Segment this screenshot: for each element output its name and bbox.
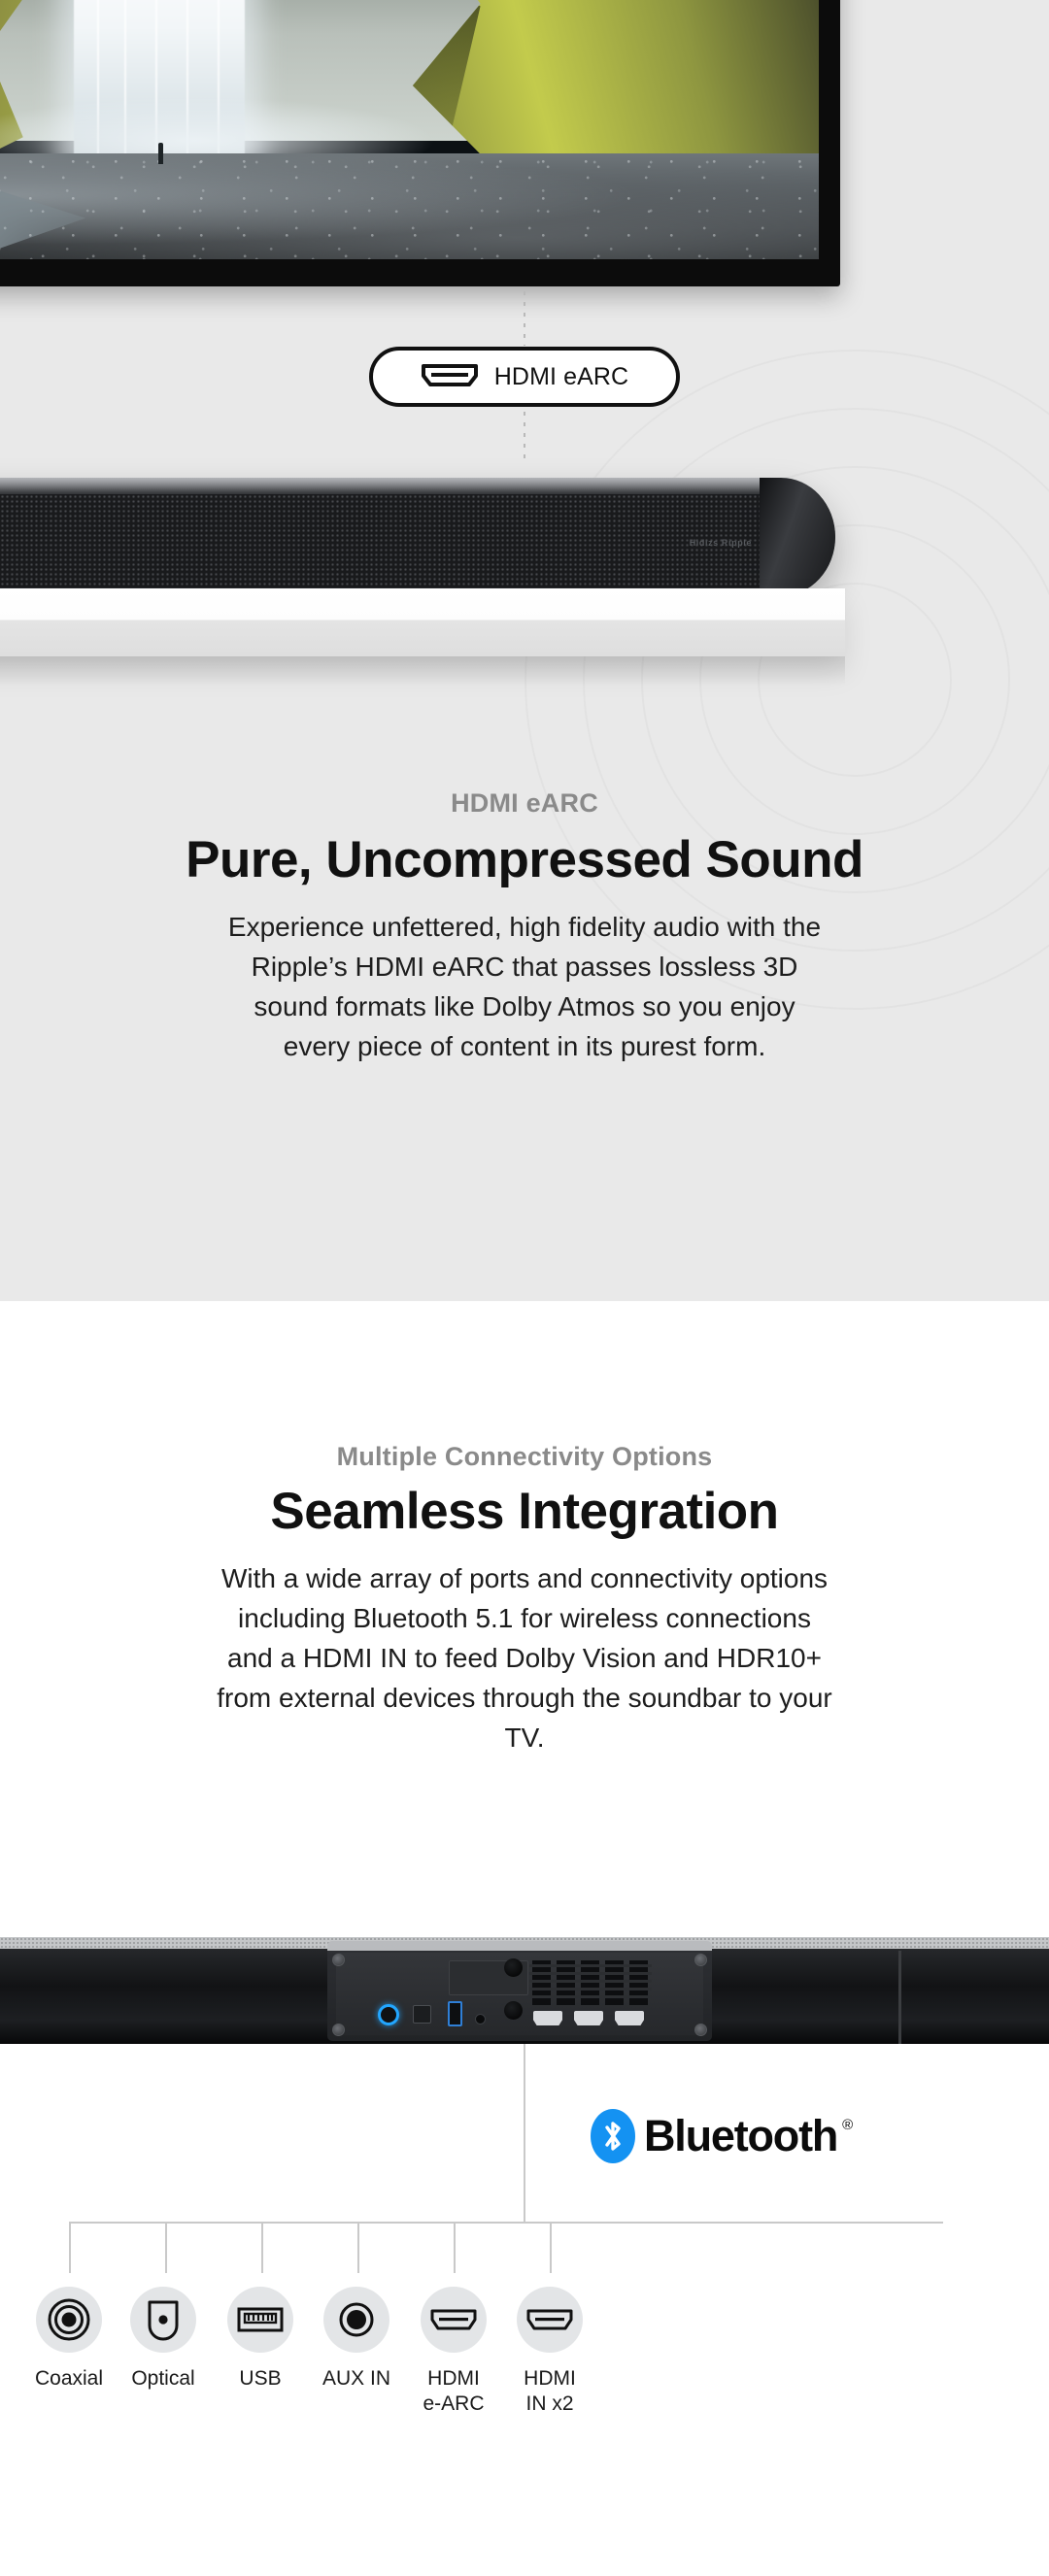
- connectivity-headline: Seamless Integration: [0, 1482, 1049, 1541]
- bluetooth-icon: [591, 2109, 635, 2163]
- coaxial-port-icon: [36, 2287, 102, 2353]
- panel-aux-port: [475, 2014, 486, 2024]
- panel-hdmi-port-3: [615, 2011, 644, 2025]
- panel-optical-port: [413, 2005, 431, 2024]
- connectivity-paragraph: With a wide array of ports and connectiv…: [214, 1559, 835, 1757]
- port-item-hdmi-in[interactable]: HDMI IN x2: [487, 2287, 613, 2416]
- panel-usb-port: [448, 2001, 462, 2026]
- port-connector-tree: [0, 2044, 1049, 2238]
- port-label: HDMI IN x2: [487, 2366, 613, 2416]
- panel-coaxial-port: [378, 2004, 399, 2025]
- hero-headline: Pure, Uncompressed Sound: [0, 830, 1049, 889]
- dotted-connector-bottom: [524, 412, 525, 460]
- bluetooth-wordmark: Bluetooth: [644, 2111, 837, 2161]
- hero-section: HDMI eARC Hidizs Ripple HDMI eARC Pure, …: [0, 0, 1049, 1301]
- optical-port-icon: [130, 2287, 196, 2353]
- registered-trademark-icon: ®: [842, 2117, 853, 2133]
- soundbar-port-panel: [327, 1941, 712, 2041]
- panel-hdmi-port-2: [574, 2011, 603, 2025]
- hdmi-earc-badge: HDMI eARC: [369, 347, 680, 407]
- television: [0, 0, 840, 286]
- panel-hdmi-port-1: [533, 2011, 562, 2025]
- hdmi-earc-badge-label: HDMI eARC: [494, 363, 628, 391]
- tv-screen: [0, 0, 819, 259]
- usb-port-icon: [227, 2287, 293, 2353]
- connectivity-eyebrow: Multiple Connectivity Options: [0, 1442, 1049, 1472]
- hdmi-port-icon: [421, 360, 479, 394]
- hdmi-in-port-icon: [517, 2287, 583, 2353]
- aux-in-port-icon: [323, 2287, 389, 2353]
- hero-eyebrow: HDMI eARC: [0, 788, 1049, 819]
- dotted-connector-top: [524, 291, 525, 346]
- tree-bus: [69, 2222, 943, 2224]
- soundbar-grille: [0, 494, 771, 587]
- ventilation-grille: [529, 1960, 652, 2005]
- hero-copy-block: HDMI eARC Pure, Uncompressed Sound Exper…: [0, 788, 1049, 1067]
- tree-stem: [524, 2044, 525, 2222]
- waterfall-scene-image: [0, 0, 819, 259]
- soundbar-brand-label: Hidizs Ripple: [690, 538, 752, 548]
- shelf: [0, 588, 845, 656]
- hdmi-earc-port-icon: [421, 2287, 487, 2353]
- port-icon-row: Coaxial Optical USB AUX IN: [0, 2287, 1049, 2481]
- bluetooth-logo: Bluetooth ®: [591, 2109, 853, 2163]
- connectivity-copy-block: Multiple Connectivity Options Seamless I…: [0, 1442, 1049, 1757]
- person-silhouette: [158, 143, 163, 164]
- hero-paragraph: Experience unfettered, high fidelity aud…: [223, 908, 826, 1067]
